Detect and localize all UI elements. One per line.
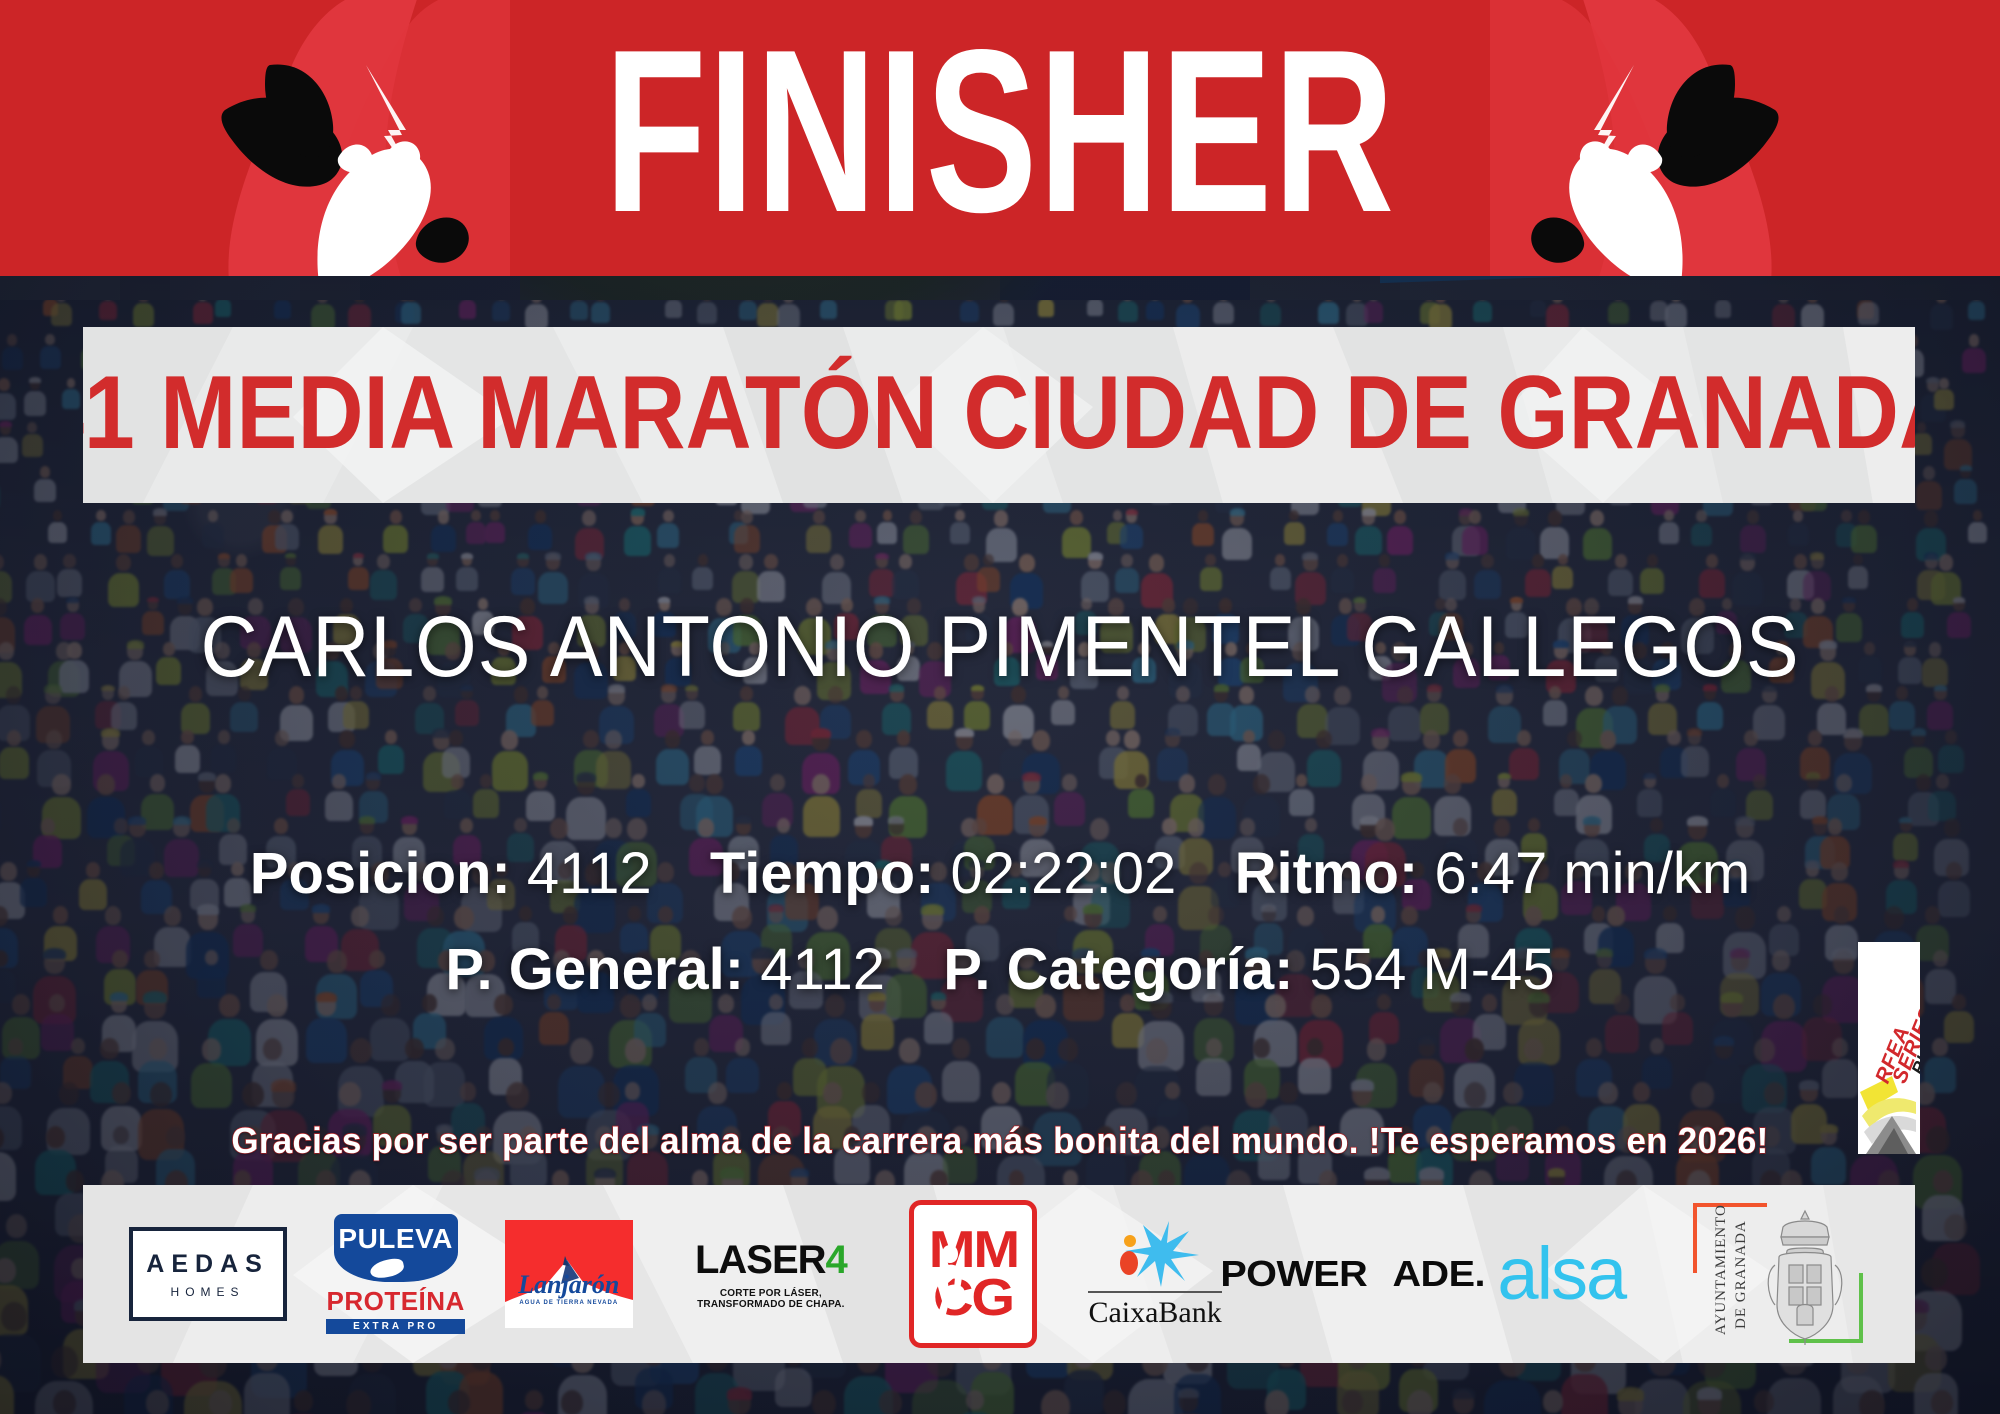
mmcg-runner-icon [920,1239,972,1335]
puleva-sub: PROTEÍNA [326,1286,464,1317]
runner-name: CARLOS ANTONIO PIMENTEL GALLEGOS [80,598,1920,697]
results-row-1: Posicion: 4112 Tiempo: 02:22:02 Ritmo: 6… [0,826,2000,922]
puleva-sub2: EXTRA PRO [326,1319,464,1334]
position-label: Posicion: [250,841,511,906]
caixabank-name: CaixaBank [1088,1291,1221,1330]
results-block: Posicion: 4112 Tiempo: 02:22:02 Ritmo: 6… [0,826,2000,1018]
sponsor-alsa[interactable]: alsa [1476,1237,1646,1311]
puleva-name: PULEVA [338,1223,453,1255]
powerade-line-2: ADE. [1355,1257,1485,1291]
sponsor-ayuntamiento-granada[interactable]: AYUNTAMIENTO DE GRANADA [1689,1199,1869,1349]
pace-label: Ritmo: [1235,841,1419,906]
sponsor-laser4[interactable]: LASER4 CORTE POR LÁSER, TRANSFORMADO DE … [676,1238,866,1310]
header-banner: FINISHER [0,0,2000,276]
lanjaron-name: Lanjarón [505,1270,633,1300]
lanjaron-sub: AGUA DE TIERRA NEVADA [505,1300,633,1306]
granada-coat-of-arms-icon [1757,1205,1853,1345]
rfea-series-badge: RFEA SERIES RUTA RUNNING [1858,942,1920,1154]
ayto-text: AYUNTAMIENTO DE GRANADA [1711,1215,1753,1335]
position-value: 4112 [527,841,652,906]
puleva-drop-icon [368,1257,405,1281]
time-label: Tiempo: [710,841,935,906]
sponsor-aedas-homes[interactable]: AEDAS HOMES [129,1227,287,1321]
sponsor-bar: AEDAS HOMES PULEVA PROTEÍNA EXTRA PRO [83,1185,1915,1363]
category-position-value: 554 M-45 [1310,937,1555,1002]
ayto-line-2: DE GRANADA [1733,1221,1749,1330]
thank-you-message: Gracias por ser parte del alma de la car… [30,1120,1970,1162]
sponsor-powerade[interactable]: POWER ADE. [1273,1257,1433,1291]
laser-accent: 4 [826,1238,847,1282]
category-position-label: P. Categoría: [943,937,1293,1002]
finisher-title: FINISHER [280,16,1720,248]
ayto-line-1: AYUNTAMIENTO [1713,1204,1729,1335]
aedas-name: AEDAS [146,1250,269,1279]
sponsor-mmcg[interactable]: MM CG [909,1200,1037,1348]
powerade-line-1: POWER [1221,1257,1368,1291]
laser-sub: CORTE POR LÁSER, TRANSFORMADO DE CHAPA. [676,1288,866,1310]
sponsor-puleva[interactable]: PULEVA PROTEÍNA EXTRA PRO [330,1214,462,1334]
laser-name: LASER [695,1238,826,1282]
sponsor-caixabank[interactable]: CaixaBank [1080,1219,1230,1330]
general-position-value: 4112 [760,937,885,1002]
pace-value: 6:47 min/km [1434,841,1750,906]
general-position-label: P. General: [445,937,744,1002]
event-title-band: 41 MEDIA MARATÓN CIUDAD DE GRANADA [83,327,1915,503]
results-row-2: P. General: 4112 P. Categoría: 554 M-45 [0,922,2000,1018]
sponsor-lanjaron[interactable]: Lanjarón AGUA DE TIERRA NEVADA [505,1220,633,1328]
caixabank-star-icon [1109,1219,1201,1289]
time-value: 02:22:02 [951,841,1177,906]
aedas-sub: HOMES [171,1285,245,1299]
event-title: 41 MEDIA MARATÓN CIUDAD DE GRANADA [193,327,1805,503]
finisher-certificate: FINISHER 41 MEDIA MARATÓN CIUDAD DE GRAN… [0,0,2000,1414]
